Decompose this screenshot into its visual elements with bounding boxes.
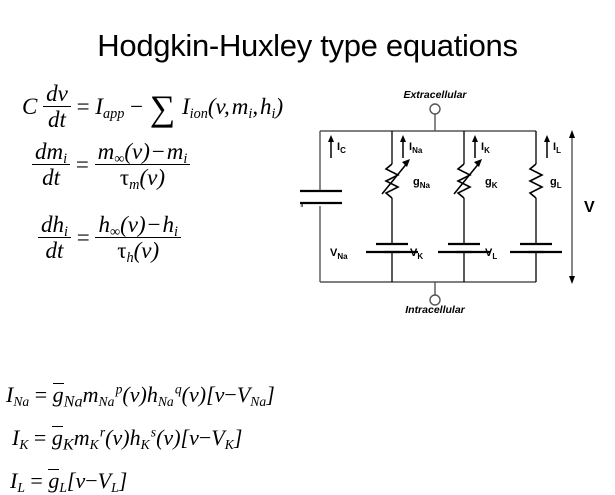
membrane-voltage-arrow-head-top xyxy=(569,130,575,138)
membrane-equivalent-circuit: Cm IC gNa VNa INa gK VK IK gL VL IL xyxy=(300,86,615,314)
eq2-equals: = xyxy=(76,152,95,177)
extracellular-label: Extracellular xyxy=(403,89,467,101)
eq4-activation: mNa p(v) xyxy=(83,382,147,407)
intracellular-label: Intracellular xyxy=(405,304,465,314)
membrane-voltage-label: V xyxy=(584,199,595,216)
eq3-rhs-denominator: τh(v) xyxy=(95,238,181,262)
eq2-rhs-numerator: m∞(v) − mi xyxy=(95,140,191,165)
potassium-conductance-variability-arrow-head xyxy=(474,159,482,167)
eq6-equals: = xyxy=(30,468,48,493)
eq5-driving-force: [v−VK] xyxy=(181,425,243,450)
eq3-lhs-denominator: dt xyxy=(38,238,71,262)
capacitive-current-label: IC xyxy=(337,141,346,155)
potassium-reversal-potential-label: VK xyxy=(410,247,423,261)
sodium-current-label: INa xyxy=(409,141,423,155)
eq4-equals: = xyxy=(35,382,53,407)
eq1-derivative-numerator: dv xyxy=(43,82,71,107)
eq1-ionic-current: Iion(v, mi, hi) xyxy=(182,94,283,119)
leak-current-arrow-head xyxy=(544,135,550,142)
equation-sodium-current: INa = gNamNa p(v)hNa q(v)[v−VNa] xyxy=(6,383,275,406)
eq3-rhs-fraction: h∞(v) − hi τh(v) xyxy=(95,213,181,262)
eq4-inactivation: hNa q(v) xyxy=(147,382,206,407)
capacitance-label: Cm xyxy=(300,195,303,209)
eq5-inactivation: hK s(v) xyxy=(130,425,181,450)
eq5-activation: mK r(v) xyxy=(74,425,130,450)
eq1-derivative-denominator: dt xyxy=(43,107,71,131)
membrane-voltage-arrow-head-bottom xyxy=(569,276,575,284)
equation-potassium-current: IK = gKmK r(v)hK s(v)[v−VK] xyxy=(12,426,242,449)
eq4-driving-force: [v−VNa] xyxy=(206,382,275,407)
equation-membrane-current-balance: C dv dt = Iapp − ∑ Iion(v, mi, hi) xyxy=(22,84,283,133)
eq3-rhs-numerator: h∞(v) − hi xyxy=(95,213,181,238)
equation-inactivation-gate-kinetics: dhi dt = h∞(v) − hi τh(v) xyxy=(38,215,181,264)
eq4-max-conductance: g xyxy=(53,383,64,406)
sodium-reversal-potential-label: VNa xyxy=(330,247,348,261)
eq3-lhs-derivative: dhi dt xyxy=(38,213,71,262)
eq6-max-conductance-sub: L xyxy=(59,480,67,495)
eq1-equals: = xyxy=(77,94,96,119)
leak-conductance-label: gL xyxy=(550,176,562,190)
page-title: Hodgkin-Huxley type equations xyxy=(0,28,615,64)
sodium-current-arrow-head xyxy=(400,135,406,142)
eq2-lhs-derivative: dmi dt xyxy=(32,140,70,189)
eq2-lhs-numerator: dmi xyxy=(32,140,70,165)
potassium-current-arrow-head xyxy=(472,135,478,142)
equation-leak-current: IL = gL[v−VL] xyxy=(10,469,127,492)
leak-reversal-potential-label: VL xyxy=(485,247,497,261)
eq5-equals: = xyxy=(34,425,52,450)
eq2-rhs-fraction: m∞(v) − mi τm(v) xyxy=(95,140,191,189)
eq4-lhs: INa xyxy=(6,382,29,407)
eq6-lhs: IL xyxy=(10,468,25,493)
eq1-minus: − xyxy=(130,94,149,119)
eq1-applied-current: Iapp xyxy=(95,94,124,119)
eq1-capacitance: C xyxy=(22,94,37,119)
sodium-conductance-label: gNa xyxy=(413,176,431,190)
eq5-max-conductance-sub: K xyxy=(63,435,74,454)
eq1-summation-symbol: ∑ xyxy=(149,91,176,127)
eq6-max-conductance: g xyxy=(48,469,59,492)
potassium-current-label: IK xyxy=(481,141,490,155)
potassium-conductance-label: gK xyxy=(485,176,498,190)
eq4-max-conductance-sub: Na xyxy=(64,392,83,411)
capacitive-current-arrow-head xyxy=(328,135,334,142)
eq2-lhs-denominator: dt xyxy=(32,165,70,189)
eq3-equals: = xyxy=(77,225,96,250)
eq6-driving-force: [v−VL] xyxy=(67,468,127,493)
eq1-derivative: dv dt xyxy=(43,82,71,131)
equation-activation-gate-kinetics: dmi dt = m∞(v) − mi τm(v) xyxy=(32,142,190,191)
eq5-lhs: IK xyxy=(12,425,28,450)
leak-conductance-resistor xyxy=(530,164,542,198)
leak-current-label: IL xyxy=(553,141,561,155)
sodium-conductance-variability-arrow-head xyxy=(402,159,410,167)
eq2-rhs-denominator: τm(v) xyxy=(95,165,191,189)
eq5-max-conductance: g xyxy=(52,426,63,449)
eq3-lhs-numerator: dhi xyxy=(38,213,71,238)
extracellular-terminal-node xyxy=(430,104,440,114)
